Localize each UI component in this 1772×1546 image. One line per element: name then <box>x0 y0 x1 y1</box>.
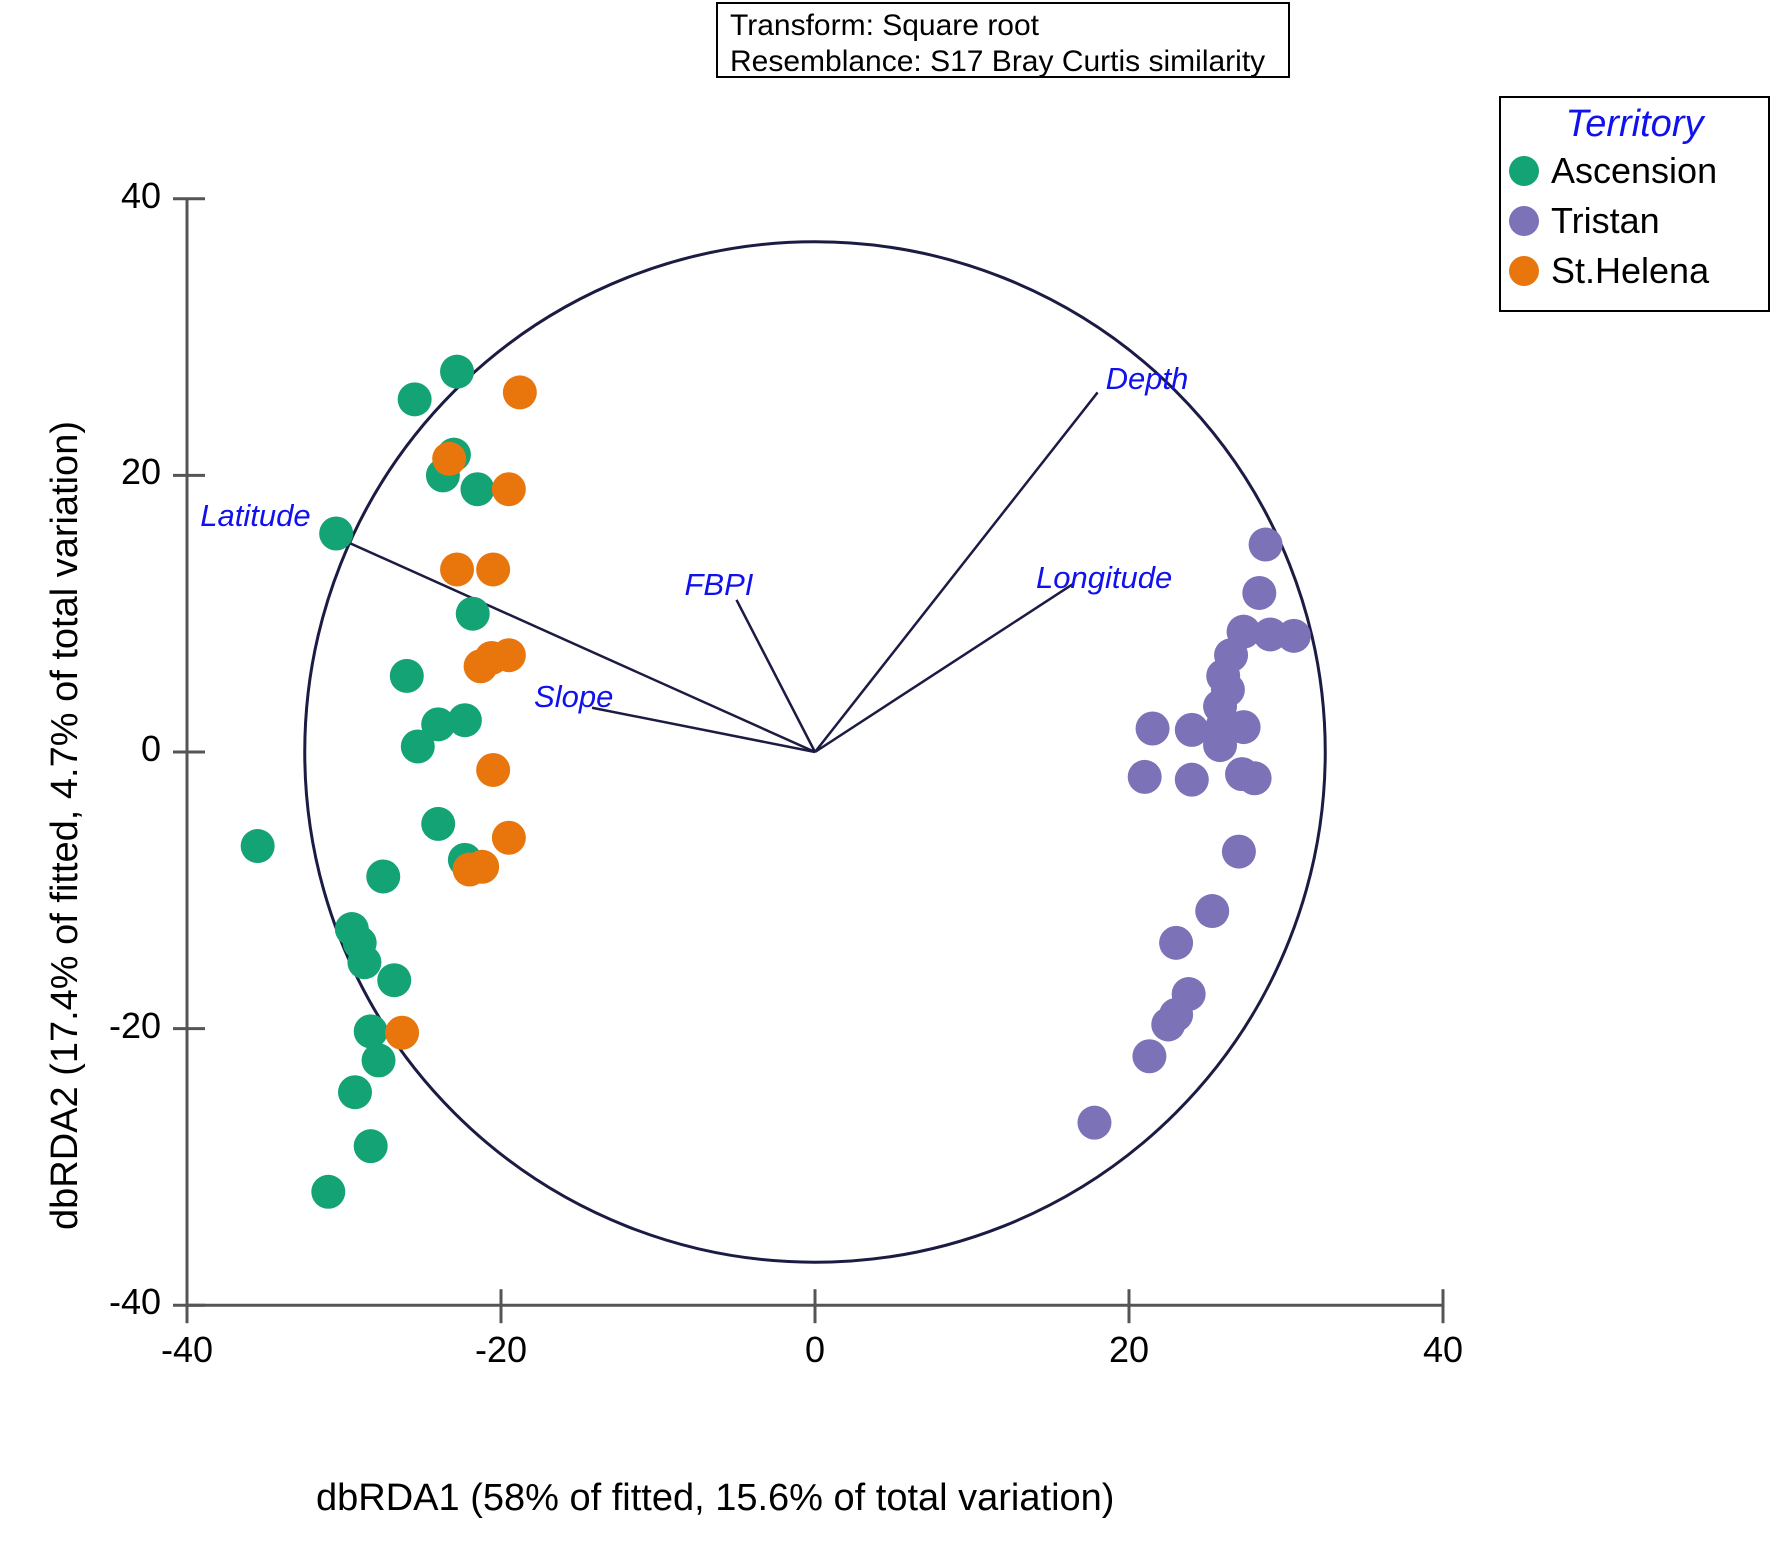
y-axis-label: dbRDA2 (17.4% of fitted, 4.7% of total v… <box>44 421 87 1230</box>
x-tick-label: 0 <box>755 1329 875 1371</box>
x-axis-label: dbRDA1 (58% of fitted, 15.6% of total va… <box>316 1477 1114 1520</box>
data-point-ascension <box>390 659 424 693</box>
data-point-ascension <box>366 859 400 893</box>
y-tick-label: -40 <box>51 1281 161 1323</box>
y-tick-label: 0 <box>51 728 161 770</box>
data-point-ascension <box>456 597 490 631</box>
data-point-sthelena <box>385 1016 419 1050</box>
data-point-ascension <box>347 945 381 979</box>
data-point-ascension <box>377 963 411 997</box>
vector-label-slope: Slope <box>534 680 613 714</box>
y-tick-label: -20 <box>51 1005 161 1047</box>
plot-canvas <box>0 0 1772 1546</box>
data-point-ascension <box>460 472 494 506</box>
data-point-ascension <box>311 1175 345 1209</box>
data-point-sthelena <box>476 552 510 586</box>
data-point-tristan <box>1132 1039 1166 1073</box>
data-point-tristan <box>1159 926 1193 960</box>
data-point-ascension <box>338 1075 372 1109</box>
data-point-ascension <box>401 729 435 763</box>
vector-label-latitude: Latitude <box>200 499 310 533</box>
vector-slope <box>592 708 815 752</box>
data-point-tristan <box>1242 576 1276 610</box>
data-point-sthelena <box>492 472 526 506</box>
vector-fbpi <box>737 600 816 752</box>
data-point-tristan <box>1175 763 1209 797</box>
data-point-ascension <box>398 382 432 416</box>
data-point-ascension <box>362 1043 396 1077</box>
data-point-tristan <box>1222 835 1256 869</box>
y-tick-label: 40 <box>51 175 161 217</box>
dbrda-ordination-figure: Transform: Square root Resemblance: S17 … <box>0 0 1772 1546</box>
data-point-tristan <box>1136 711 1170 745</box>
data-point-ascension <box>241 829 275 863</box>
data-point-tristan <box>1151 1007 1185 1041</box>
vector-longitude <box>815 583 1074 752</box>
data-point-tristan <box>1195 894 1229 928</box>
plot-area: dbRDA2 (17.4% of fitted, 4.7% of total v… <box>0 0 1772 1546</box>
vector-label-fbpi: FBPI <box>685 568 754 602</box>
y-tick-label: 20 <box>51 451 161 493</box>
data-point-sthelena <box>465 850 499 884</box>
data-point-tristan <box>1128 760 1162 794</box>
x-tick-label: -20 <box>441 1329 561 1371</box>
data-point-ascension <box>319 516 353 550</box>
vector-label-depth: Depth <box>1106 362 1189 396</box>
data-point-sthelena <box>432 442 466 476</box>
vector-label-longitude: Longitude <box>1036 561 1172 595</box>
data-point-tristan <box>1277 619 1311 653</box>
data-point-tristan <box>1203 728 1237 762</box>
data-point-sthelena <box>503 375 537 409</box>
data-point-ascension <box>354 1014 388 1048</box>
data-point-ascension <box>440 355 474 389</box>
data-point-tristan <box>1238 761 1272 795</box>
data-point-sthelena <box>440 552 474 586</box>
data-point-sthelena <box>476 753 510 787</box>
data-point-tristan <box>1077 1106 1111 1140</box>
data-point-sthelena <box>492 638 526 672</box>
data-point-ascension <box>354 1129 388 1163</box>
data-point-sthelena <box>492 821 526 855</box>
data-point-ascension <box>421 807 455 841</box>
x-tick-label: 20 <box>1069 1329 1189 1371</box>
x-tick-label: 40 <box>1383 1329 1503 1371</box>
x-tick-label: -40 <box>127 1329 247 1371</box>
data-point-tristan <box>1249 528 1283 562</box>
data-point-ascension <box>448 703 482 737</box>
